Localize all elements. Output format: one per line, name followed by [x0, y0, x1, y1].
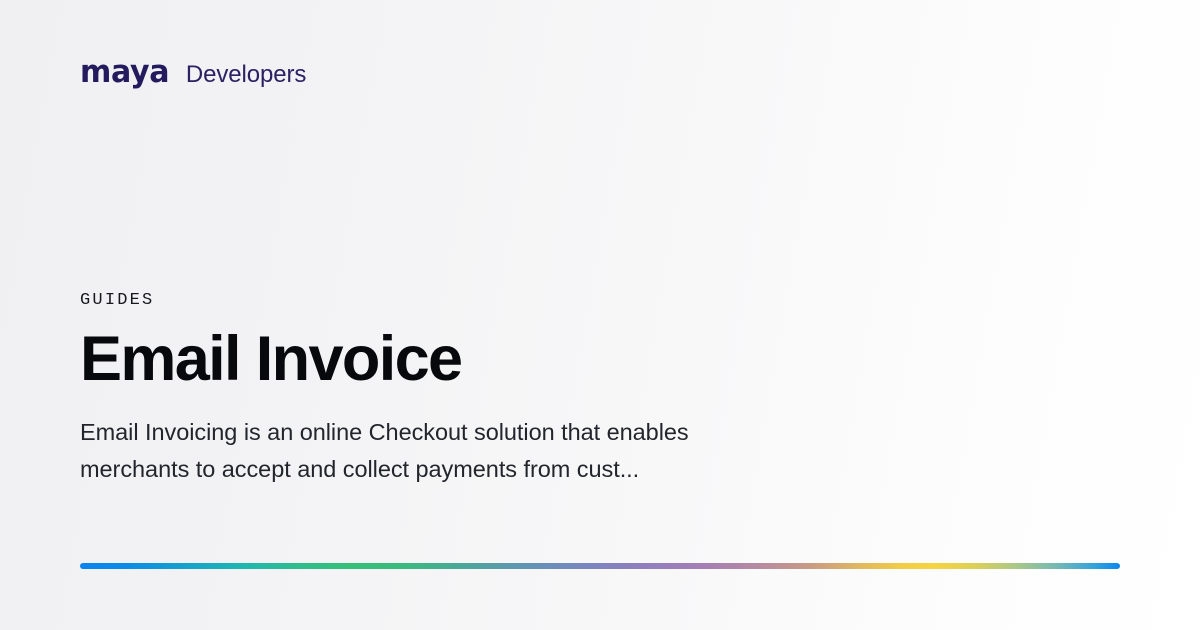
developers-label: Developers: [186, 63, 306, 87]
gradient-accent-bar: [80, 563, 1120, 569]
page-description: Email Invoicing is an online Checkout so…: [80, 393, 770, 487]
content-block: GUIDES Email Invoice Email Invoicing is …: [80, 292, 870, 487]
page-title: Email Invoice: [80, 309, 870, 393]
maya-wordmark: maya: [80, 57, 169, 88]
social-card: maya Developers GUIDES Email Invoice Ema…: [0, 0, 1200, 630]
maya-developers-logo[interactable]: maya Developers: [80, 57, 306, 88]
category-eyebrow: GUIDES: [80, 292, 870, 309]
